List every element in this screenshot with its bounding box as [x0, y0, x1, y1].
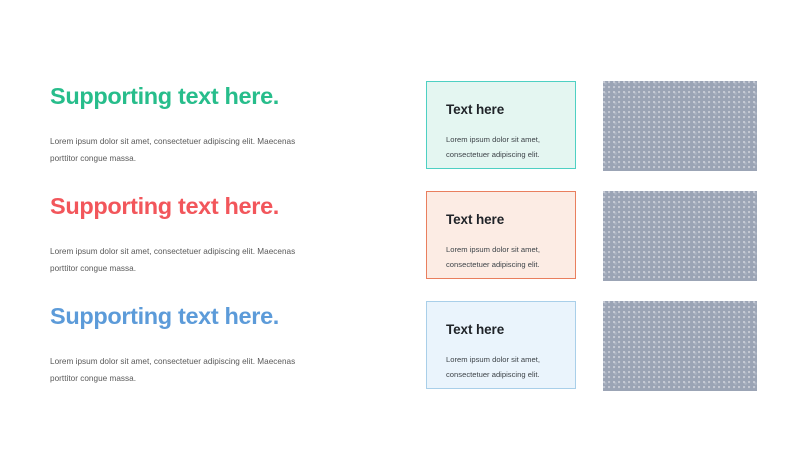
card-title: Text here [446, 322, 504, 337]
slide-canvas: Supporting text here. Lorem ipsum dolor … [0, 0, 800, 450]
feature-card[interactable]: Text here Lorem ipsum dolor sit amet, co… [426, 301, 576, 389]
card-title: Text here [446, 102, 504, 117]
image-placeholder[interactable] [603, 81, 757, 171]
content-row: Supporting text here. Lorem ipsum dolor … [0, 71, 800, 181]
row-body-text: Lorem ipsum dolor sit amet, consectetuer… [50, 243, 312, 277]
row-heading: Supporting text here. [50, 193, 350, 219]
card-title: Text here [446, 212, 504, 227]
card-body-text: Lorem ipsum dolor sit amet, consectetuer… [446, 242, 562, 272]
image-placeholder[interactable] [603, 191, 757, 281]
row-text-column: Supporting text here. Lorem ipsum dolor … [50, 291, 350, 401]
row-text-column: Supporting text here. Lorem ipsum dolor … [50, 71, 350, 181]
image-placeholder[interactable] [603, 301, 757, 391]
row-text-column: Supporting text here. Lorem ipsum dolor … [50, 181, 350, 291]
row-body-text: Lorem ipsum dolor sit amet, consectetuer… [50, 133, 312, 167]
card-body-text: Lorem ipsum dolor sit amet, consectetuer… [446, 352, 562, 382]
content-row: Supporting text here. Lorem ipsum dolor … [0, 291, 800, 401]
card-body-text: Lorem ipsum dolor sit amet, consectetuer… [446, 132, 562, 162]
feature-card[interactable]: Text here Lorem ipsum dolor sit amet, co… [426, 81, 576, 169]
row-body-text: Lorem ipsum dolor sit amet, consectetuer… [50, 353, 312, 387]
content-row: Supporting text here. Lorem ipsum dolor … [0, 181, 800, 291]
row-heading: Supporting text here. [50, 303, 350, 329]
row-heading: Supporting text here. [50, 83, 350, 109]
feature-card[interactable]: Text here Lorem ipsum dolor sit amet, co… [426, 191, 576, 279]
